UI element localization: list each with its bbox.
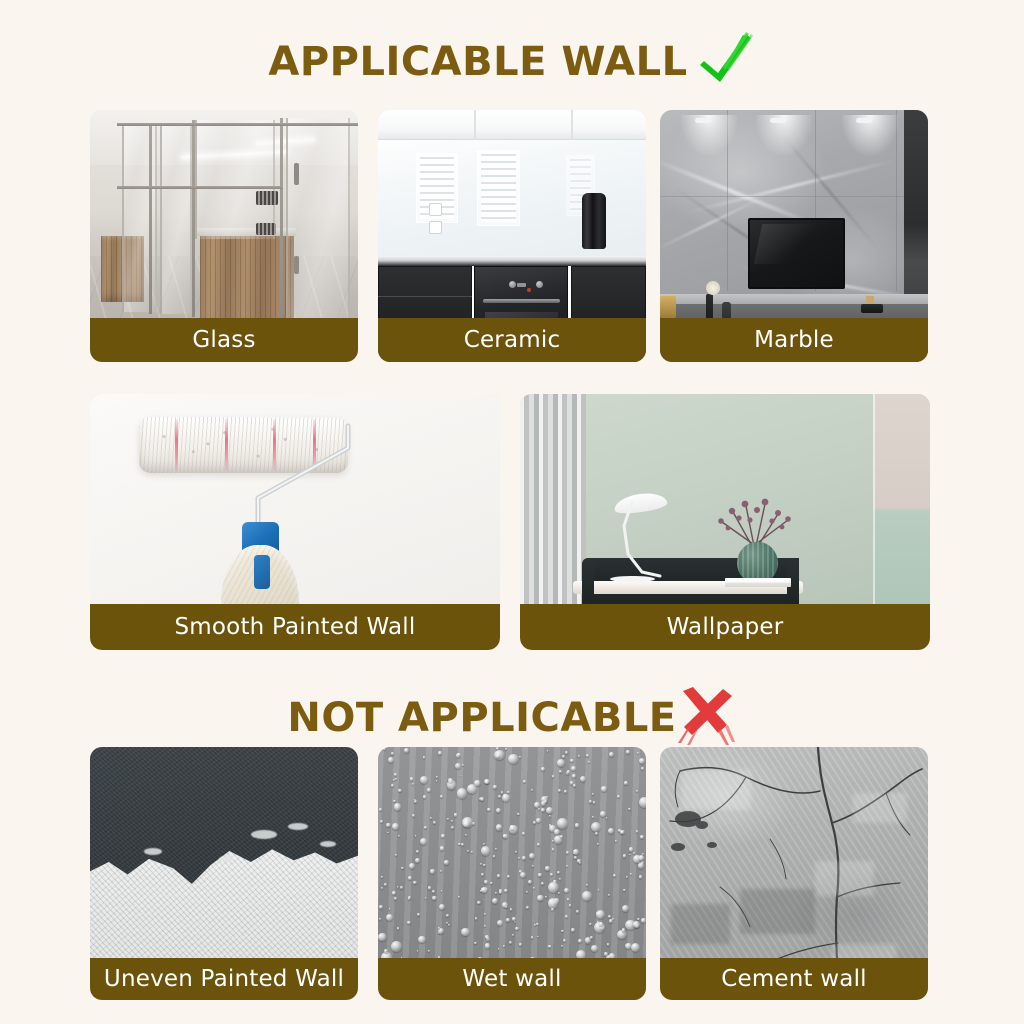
applicable-wall-heading: APPLICABLE WALL [0,36,1024,88]
tile-wallpaper[interactable]: Wallpaper [520,394,930,650]
not-applicable-heading: NOT APPLICABLE [0,692,1024,744]
tile-cement-wall-label: Cement wall [660,958,928,1000]
tile-marble-label: Marble [660,318,928,362]
tile-cement-wall[interactable]: Cement wall [660,747,928,1000]
tile-ceramic-label: Ceramic [378,318,646,362]
red-cross-icon [671,685,737,751]
tile-wet-wall-label: Wet wall [378,958,646,1000]
tile-uneven-painted-wall[interactable]: Uneven Painted Wall [90,747,358,1000]
applicable-wall-heading-text: APPLICABLE WALL [268,39,687,85]
tile-marble[interactable]: Marble [660,110,928,362]
not-applicable-heading-text: NOT APPLICABLE [287,695,676,741]
tile-glass[interactable]: Glass [90,110,358,362]
tile-smooth-painted-wall-label: Smooth Painted Wall [90,604,500,650]
tile-wet-wall[interactable]: Wet wall [378,747,646,1000]
tile-smooth-painted-wall[interactable]: Smooth Painted Wall [90,394,500,650]
tile-glass-label: Glass [90,318,358,362]
infographic-page: APPLICABLE WALL [0,0,1024,1024]
tile-ceramic[interactable]: Ceramic [378,110,646,362]
green-check-icon [694,32,756,92]
tile-wallpaper-label: Wallpaper [520,604,930,650]
tile-uneven-painted-wall-label: Uneven Painted Wall [90,958,358,1000]
